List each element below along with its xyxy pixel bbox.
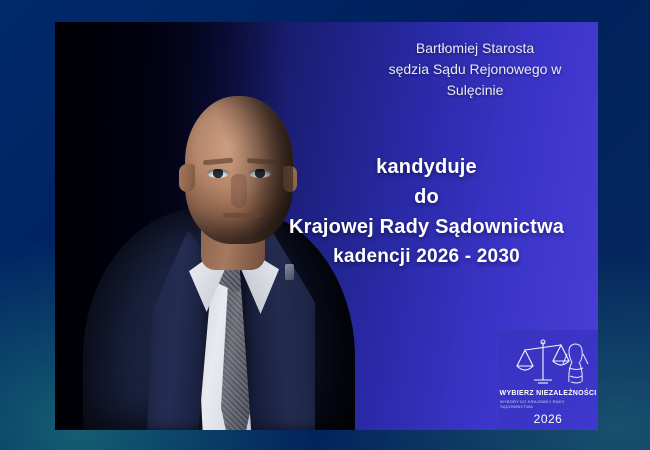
message-line-kandyduje: kandyduje bbox=[255, 152, 598, 182]
poster-frame: Bartłomiej Starosta sędzia Sądu Rejonowe… bbox=[0, 0, 650, 450]
candidate-role-line1: sędzia Sądu Rejonowego w bbox=[355, 59, 595, 80]
candidate-identity-block: Bartłomiej Starosta sędzia Sądu Rejonowe… bbox=[355, 38, 595, 101]
campaign-logo: WYBIERZ NIEZALEŻNOŚCI WYBORY DO KRAJOWEJ… bbox=[498, 330, 598, 430]
message-line-do: do bbox=[255, 182, 598, 212]
logo-subtitle: WYBORY DO KRAJOWEJ RADY SĄDOWNICTWA bbox=[500, 399, 596, 409]
message-line-council: Krajowej Rady Sądownictwa bbox=[255, 212, 598, 242]
candidate-role-line2: Sulęcinie bbox=[355, 80, 595, 101]
candidate-name: Bartłomiej Starosta bbox=[355, 38, 595, 59]
campaign-message-block: kandyduje do Krajowej Rady Sądownictwa k… bbox=[255, 152, 598, 272]
logo-year: 2026 bbox=[534, 412, 563, 426]
poster-image: Bartłomiej Starosta sędzia Sądu Rejonowe… bbox=[55, 22, 598, 430]
logo-tagline: WYBIERZ NIEZALEŻNOŚCI bbox=[500, 390, 597, 397]
message-line-term: kadencji 2026 - 2030 bbox=[255, 242, 598, 272]
justice-emblem-icon bbox=[505, 336, 591, 388]
